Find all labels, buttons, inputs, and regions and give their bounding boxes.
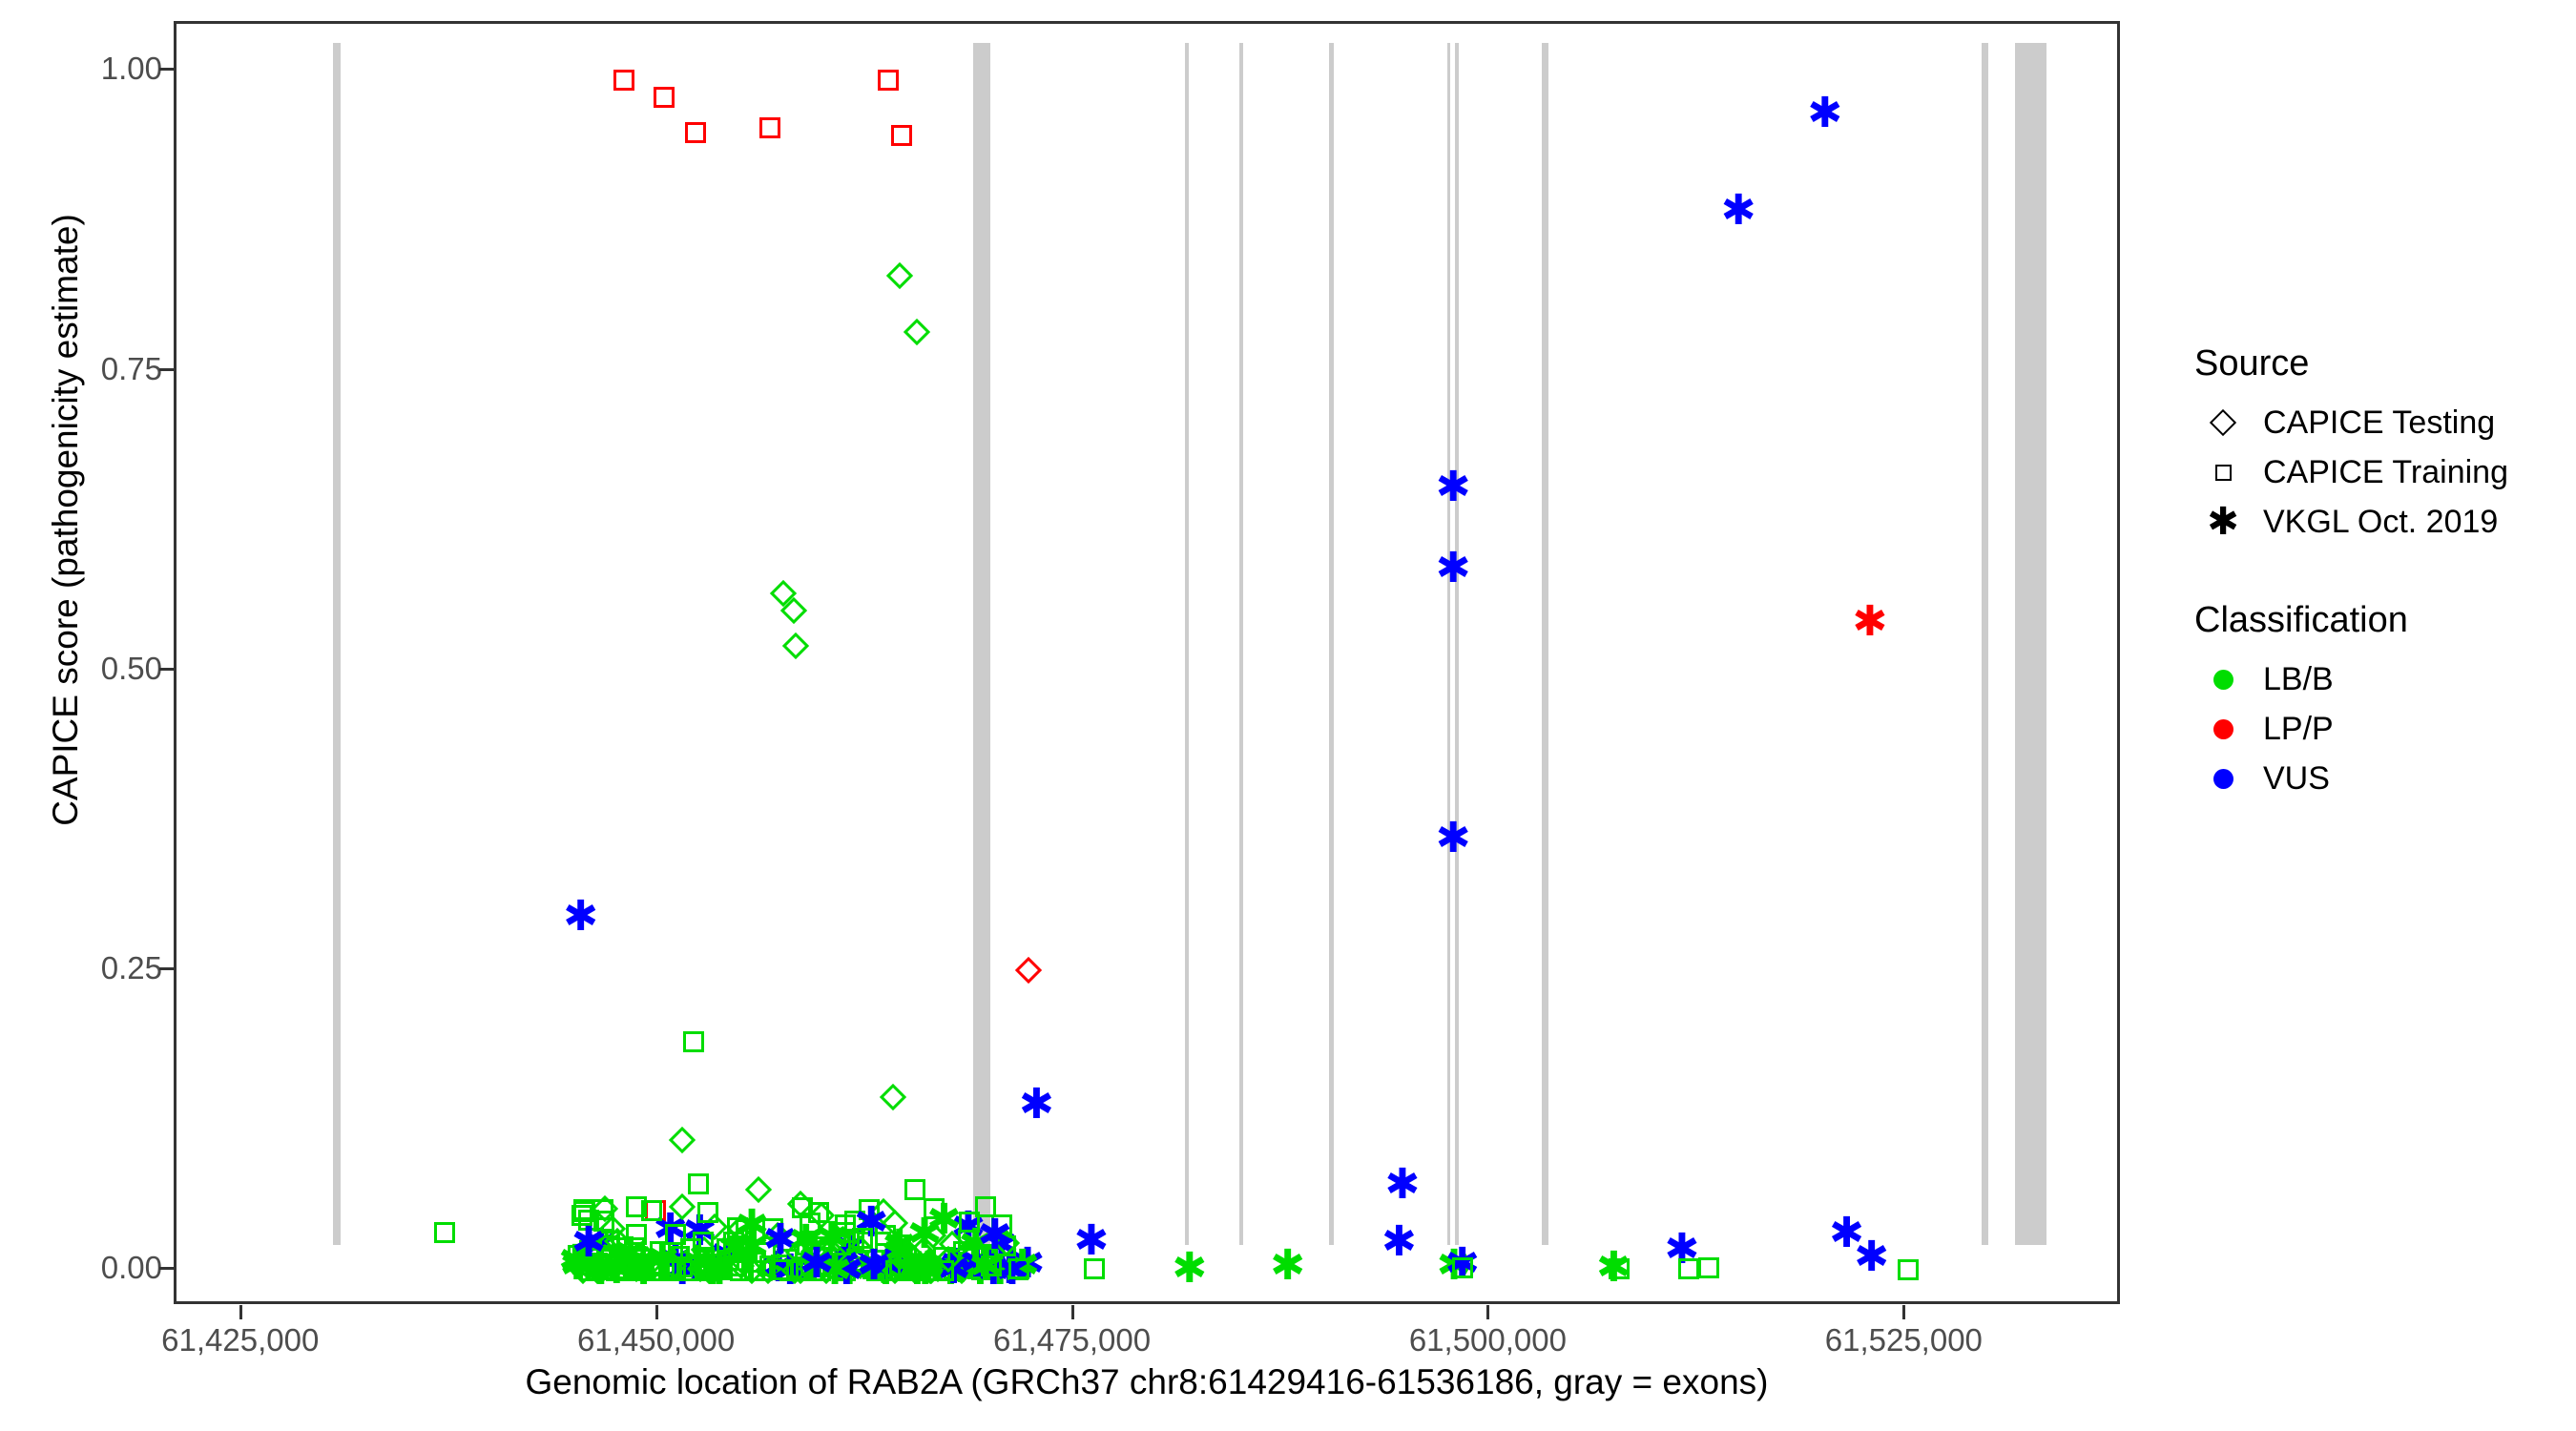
scatter-point bbox=[823, 1253, 844, 1274]
scatter-point bbox=[687, 1255, 714, 1282]
scatter-point bbox=[680, 1238, 701, 1259]
scatter-point bbox=[434, 1222, 455, 1243]
scatter-point: ✱ bbox=[857, 1252, 885, 1280]
scatter-point bbox=[785, 1238, 812, 1265]
legend-item[interactable]: VUS bbox=[2194, 754, 2576, 803]
scatter-point: ✱ bbox=[1807, 99, 1836, 128]
scatter-point: ✱ bbox=[1854, 1243, 1882, 1272]
y-tick-mark bbox=[159, 68, 174, 71]
scatter-point: ✱ bbox=[1852, 608, 1880, 636]
scatter-point bbox=[568, 1245, 589, 1266]
scatter-point bbox=[1452, 1257, 1473, 1278]
scatter-point bbox=[630, 1249, 651, 1270]
scatter-point bbox=[727, 1215, 754, 1242]
scatter-point: ✱ bbox=[976, 1256, 1005, 1285]
scatter-point bbox=[790, 1259, 811, 1280]
scatter-point bbox=[781, 633, 808, 659]
scatter-point bbox=[592, 1259, 613, 1280]
scatter-point: ✱ bbox=[907, 1256, 936, 1285]
scatter-point: ✱ bbox=[936, 1255, 965, 1284]
y-tick-label: 1.00 bbox=[29, 52, 162, 84]
scatter-point bbox=[697, 1202, 718, 1223]
scatter-point bbox=[886, 262, 913, 289]
scatter-point bbox=[810, 1260, 831, 1281]
scatter-point: ✱ bbox=[892, 1249, 921, 1277]
scatter-point bbox=[595, 1259, 616, 1280]
scatter-point bbox=[573, 1199, 594, 1220]
scatter-point bbox=[658, 1258, 679, 1279]
scatter-point: ✱ bbox=[710, 1241, 738, 1270]
scatter-point bbox=[953, 1241, 974, 1262]
scatter-point bbox=[586, 1257, 613, 1284]
x-tick-label: 61,500,000 bbox=[1344, 1324, 1631, 1356]
scatter-point bbox=[1898, 1259, 1919, 1280]
diamond-icon bbox=[2194, 398, 2252, 447]
scatter-point bbox=[615, 1260, 636, 1281]
scatter-point bbox=[650, 1241, 671, 1262]
scatter-point bbox=[777, 1249, 798, 1270]
scatter-point: ✱ bbox=[735, 1212, 763, 1240]
scatter-point bbox=[904, 319, 930, 345]
scatter-point bbox=[612, 1237, 633, 1258]
scatter-point bbox=[939, 1231, 966, 1257]
scatter-point bbox=[944, 1258, 965, 1279]
scatter-point bbox=[917, 1257, 944, 1284]
scatter-point bbox=[592, 1244, 618, 1271]
dot-icon bbox=[2194, 704, 2252, 754]
scatter-point bbox=[626, 1224, 647, 1245]
scatter-point bbox=[581, 1248, 602, 1269]
scatter-point bbox=[649, 1260, 670, 1281]
scatter-point bbox=[933, 1260, 954, 1281]
scatter-point: ✱ bbox=[833, 1234, 862, 1262]
scatter-point bbox=[604, 1228, 631, 1255]
legend-item-label: LP/P bbox=[2263, 711, 2334, 748]
scatter-point bbox=[672, 1256, 693, 1277]
scatter-point: ✱ bbox=[1010, 1250, 1039, 1278]
legend-item[interactable]: CAPICE Training bbox=[2194, 447, 2576, 497]
legend-block: ClassificationLB/BLP/PVUS bbox=[2194, 600, 2576, 803]
scatter-point bbox=[878, 70, 899, 91]
scatter-point bbox=[800, 1238, 826, 1265]
scatter-point bbox=[780, 597, 807, 624]
scatter-point bbox=[717, 1238, 737, 1259]
scatter-point bbox=[614, 1258, 635, 1279]
scatter-point bbox=[593, 1211, 614, 1232]
scatter-point bbox=[918, 1260, 939, 1281]
scatter-point: ✱ bbox=[734, 1234, 762, 1262]
scatter-point: ✱ bbox=[571, 1229, 600, 1257]
scatter-point bbox=[641, 1200, 662, 1221]
square-icon bbox=[2194, 447, 2252, 497]
scatter-point: ✱ bbox=[907, 1220, 936, 1249]
scatter-point bbox=[1678, 1258, 1699, 1279]
legend-item[interactable]: LP/P bbox=[2194, 704, 2576, 754]
scatter-point: ✱ bbox=[583, 1256, 612, 1285]
scatter-point bbox=[933, 1247, 954, 1268]
scatter-point bbox=[800, 1255, 821, 1276]
scatter-point bbox=[606, 1246, 633, 1273]
scatter-point: ✱ bbox=[882, 1232, 910, 1260]
scatter-point bbox=[1015, 957, 1042, 984]
scatter-point: ✱ bbox=[583, 1231, 612, 1259]
scatter-point bbox=[981, 1255, 1002, 1276]
scatter-point bbox=[683, 1031, 704, 1052]
scatter-point bbox=[599, 1215, 626, 1242]
plot-panel: ✱✱✱✱✱✱✱✱✱✱✱✱✱✱✱✱✱✱✱✱✱✱✱✱✱✱✱✱✱✱✱✱✱✱✱✱✱✱✱✱… bbox=[174, 21, 2120, 1304]
scatter-point bbox=[723, 1255, 744, 1276]
scatter-point bbox=[723, 1232, 744, 1253]
scatter-point bbox=[835, 1214, 856, 1235]
scatter-point bbox=[584, 1257, 611, 1284]
x-tick-mark bbox=[1902, 1305, 1905, 1319]
scatter-point: ✱ bbox=[825, 1250, 854, 1278]
scatter-point bbox=[727, 1217, 748, 1238]
scatter-point bbox=[770, 580, 797, 607]
scatter-point bbox=[889, 1259, 910, 1280]
scatter-point: ✱ bbox=[1270, 1252, 1298, 1280]
scatter-point bbox=[806, 1255, 827, 1275]
scatter-point bbox=[866, 1250, 887, 1271]
scatter-point: ✱ bbox=[653, 1215, 681, 1244]
scatter-point bbox=[844, 1211, 865, 1232]
scatter-point bbox=[1609, 1258, 1630, 1279]
scatter-point: ✱ bbox=[871, 1252, 900, 1280]
scatter-point bbox=[712, 1257, 733, 1278]
scatter-point bbox=[847, 1235, 874, 1262]
scatter-point bbox=[632, 1260, 653, 1281]
scatter-point bbox=[846, 1251, 867, 1272]
x-axis-title: Genomic location of RAB2A (GRCh37 chr8:6… bbox=[174, 1359, 2120, 1405]
scatter-point: ✱ bbox=[702, 1256, 731, 1285]
scatter-point: ✱ bbox=[900, 1256, 928, 1285]
scatter-point bbox=[824, 1226, 851, 1253]
scatter-point: ✱ bbox=[910, 1254, 939, 1282]
scatter-point: ✱ bbox=[799, 1250, 827, 1278]
scatter-point bbox=[606, 1260, 627, 1281]
scatter-point: ✱ bbox=[1664, 1235, 1693, 1264]
scatter-point bbox=[847, 1256, 868, 1277]
scatter-point bbox=[779, 1260, 800, 1281]
scatter-point bbox=[626, 1196, 647, 1217]
scatter-point bbox=[883, 1260, 904, 1281]
scatter-point bbox=[852, 1228, 873, 1249]
scatter-point: ✱ bbox=[717, 1234, 746, 1263]
scatter-point: ✱ bbox=[679, 1248, 708, 1276]
scatter-point bbox=[665, 1224, 686, 1245]
scatter-point bbox=[917, 1257, 944, 1284]
scatter-point: ✱ bbox=[881, 1239, 909, 1268]
scatter-point bbox=[578, 1210, 599, 1231]
x-tick-mark bbox=[1071, 1305, 1074, 1319]
scatter-point: ✱ bbox=[1385, 1171, 1414, 1199]
scatter-point bbox=[890, 1234, 911, 1255]
scatter-point: ✱ bbox=[762, 1226, 791, 1255]
y-tick-mark bbox=[159, 1267, 174, 1270]
scatter-point bbox=[1698, 1257, 1719, 1278]
scatter-point bbox=[736, 1219, 757, 1240]
scatter-point bbox=[808, 1202, 829, 1223]
scatter-point bbox=[800, 1255, 821, 1275]
scatter-point: ✱ bbox=[867, 1255, 896, 1284]
scatter-point bbox=[870, 1232, 891, 1253]
scatter-point bbox=[762, 1218, 783, 1239]
scatter-point bbox=[901, 1256, 922, 1277]
y-tick-mark bbox=[159, 967, 174, 970]
scatter-point bbox=[573, 1201, 594, 1222]
scatter-point bbox=[771, 1255, 792, 1275]
scatter-point: ✱ bbox=[599, 1255, 628, 1284]
scatter-point: ✱ bbox=[963, 1256, 991, 1285]
scatter-point: ✱ bbox=[854, 1209, 883, 1237]
y-tick-label: 0.50 bbox=[29, 653, 162, 684]
scatter-point bbox=[908, 1238, 935, 1265]
dot-icon bbox=[2194, 654, 2252, 704]
scatter-point bbox=[755, 1242, 776, 1263]
scatter-point bbox=[796, 1256, 817, 1277]
scatter-point bbox=[705, 1259, 726, 1280]
scatter-point bbox=[641, 1254, 662, 1275]
scatter-point bbox=[934, 1246, 961, 1273]
legend-title: Source bbox=[2194, 343, 2576, 384]
scatter-point bbox=[885, 1244, 912, 1271]
scatter-point bbox=[738, 1257, 765, 1284]
scatter-point bbox=[571, 1205, 592, 1226]
legend-block: SourceCAPICE TestingCAPICE Training✱VKGL… bbox=[2194, 343, 2576, 547]
scatter-point bbox=[695, 1253, 721, 1279]
scatter-point bbox=[862, 1258, 883, 1279]
scatter-point: ✱ bbox=[558, 1247, 587, 1275]
exon-band bbox=[1447, 43, 1450, 1245]
scatter-point bbox=[891, 125, 912, 146]
x-tick-label: 61,525,000 bbox=[1760, 1324, 2046, 1356]
scatter-point bbox=[634, 1255, 654, 1276]
dot-icon bbox=[2194, 754, 2252, 803]
scatter-point bbox=[718, 1250, 739, 1271]
scatter-point bbox=[661, 1260, 682, 1281]
scatter-point: ✱ bbox=[665, 1256, 694, 1285]
x-tick-mark bbox=[655, 1305, 658, 1319]
scatter-point bbox=[787, 1191, 814, 1217]
scatter-point: ✱ bbox=[1019, 1090, 1048, 1119]
exon-band bbox=[1329, 43, 1333, 1245]
scatter-point bbox=[796, 1260, 817, 1281]
scatter-point bbox=[587, 1253, 608, 1274]
y-tick-mark bbox=[159, 368, 174, 371]
scatter-point bbox=[904, 1179, 925, 1200]
scatter-point bbox=[645, 1200, 666, 1221]
exon-band bbox=[1239, 43, 1243, 1245]
scatter-point: ✱ bbox=[868, 1256, 897, 1285]
exon-band bbox=[1185, 43, 1189, 1245]
exon-band bbox=[1982, 43, 1988, 1245]
scatter-point bbox=[993, 1230, 1020, 1256]
legend-item-label: CAPICE Testing bbox=[2263, 404, 2495, 442]
legend-item-label: VKGL Oct. 2019 bbox=[2263, 504, 2498, 541]
scatter-point bbox=[857, 1232, 878, 1253]
scatter-point bbox=[751, 1260, 772, 1281]
scatter-point bbox=[609, 1252, 630, 1273]
scatter-point bbox=[870, 1257, 897, 1284]
scatter-point bbox=[669, 1127, 696, 1153]
scatter-point bbox=[592, 1234, 619, 1260]
scatter-point bbox=[896, 1245, 917, 1266]
scatter-point bbox=[898, 1260, 919, 1281]
scatter-point bbox=[580, 1260, 601, 1281]
scatter-point bbox=[694, 1247, 715, 1268]
scatter-point: ✱ bbox=[944, 1255, 972, 1283]
legend: SourceCAPICE TestingCAPICE Training✱VKGL… bbox=[2194, 343, 2576, 857]
scatter-point bbox=[730, 1260, 751, 1281]
scatter-point bbox=[920, 1221, 946, 1248]
scatter-point bbox=[773, 1259, 794, 1280]
scatter-point bbox=[759, 1255, 780, 1276]
scatter-point bbox=[693, 1260, 714, 1281]
scatter-point bbox=[643, 1255, 664, 1276]
x-tick-label: 61,450,000 bbox=[513, 1324, 800, 1356]
scatter-point: ✱ bbox=[933, 1256, 962, 1285]
scatter-point bbox=[821, 1240, 848, 1267]
scatter-point: ✱ bbox=[983, 1256, 1011, 1285]
scatter-point: ✱ bbox=[959, 1249, 987, 1277]
scatter-point bbox=[654, 87, 675, 108]
scatter-point bbox=[703, 1258, 724, 1279]
scatter-point bbox=[859, 1199, 880, 1220]
y-axis-title: CAPICE score (pathogenicity estimate) bbox=[44, 0, 88, 1183]
scatter-point: ✱ bbox=[818, 1256, 846, 1285]
scatter-point: ✱ bbox=[626, 1256, 654, 1285]
x-tick-label: 61,475,000 bbox=[929, 1324, 1215, 1356]
legend-item[interactable]: CAPICE Testing bbox=[2194, 398, 2576, 447]
scatter-point bbox=[804, 1260, 825, 1281]
scatter-point bbox=[910, 1260, 931, 1281]
scatter-point bbox=[744, 1260, 765, 1281]
scatter-point: ✱ bbox=[968, 1253, 997, 1281]
scatter-point: ✱ bbox=[773, 1256, 801, 1285]
scatter-point: ✱ bbox=[761, 1254, 790, 1282]
scatter-point: ✱ bbox=[1596, 1254, 1625, 1282]
scatter-point bbox=[868, 1260, 889, 1281]
scatter-point bbox=[579, 1240, 600, 1261]
scatter-point bbox=[623, 1257, 644, 1278]
scatter-point bbox=[705, 1257, 732, 1284]
scatter-point bbox=[612, 1260, 633, 1281]
scatter-point: ✱ bbox=[1005, 1252, 1033, 1280]
scatter-point bbox=[693, 1232, 714, 1253]
scatter-point: ✱ bbox=[695, 1256, 723, 1285]
scatter-point bbox=[882, 1210, 908, 1236]
scatter-point bbox=[592, 1199, 613, 1220]
scatter-point bbox=[703, 1254, 724, 1275]
scatter-point bbox=[759, 117, 780, 138]
y-tick-label: 0.25 bbox=[29, 952, 162, 984]
scatter-point bbox=[924, 1198, 945, 1219]
legend-item[interactable]: ✱VKGL Oct. 2019 bbox=[2194, 497, 2576, 547]
scatter-point bbox=[903, 1257, 929, 1284]
scatter-point bbox=[598, 1235, 619, 1256]
scatter-point bbox=[901, 1256, 927, 1283]
scatter-point bbox=[697, 1259, 718, 1280]
scatter-point bbox=[575, 1255, 596, 1275]
scatter-point bbox=[625, 1246, 646, 1267]
scatter-point bbox=[995, 1235, 1016, 1256]
scatter-point bbox=[1008, 1258, 1029, 1279]
scatter-point bbox=[786, 1260, 807, 1281]
exon-band bbox=[973, 43, 989, 1245]
scatter-point bbox=[622, 1255, 649, 1282]
scatter-point bbox=[808, 1247, 829, 1268]
scatter-point bbox=[605, 1250, 632, 1276]
scatter-point bbox=[861, 1256, 882, 1277]
scatter-point bbox=[967, 1258, 988, 1279]
scatter-point bbox=[668, 1246, 689, 1267]
chart-root: CAPICE score (pathogenicity estimate) 0.… bbox=[0, 0, 2576, 1431]
scatter-point bbox=[745, 1252, 766, 1273]
scatter-point: ✱ bbox=[658, 1247, 687, 1275]
scatter-point bbox=[843, 1231, 864, 1252]
scatter-point: ✱ bbox=[563, 902, 592, 931]
scatter-point bbox=[800, 1213, 821, 1234]
legend-item-label: LB/B bbox=[2263, 661, 2334, 698]
scatter-point bbox=[890, 1260, 911, 1281]
scatter-point bbox=[875, 1225, 896, 1246]
scatter-point bbox=[971, 1259, 992, 1280]
scatter-point bbox=[644, 1260, 665, 1281]
legend-item-label: VUS bbox=[2263, 760, 2330, 798]
exon-band bbox=[1542, 43, 1548, 1245]
scatter-point bbox=[792, 1197, 813, 1218]
scatter-point bbox=[830, 1234, 851, 1255]
x-tick-label: 61,425,000 bbox=[97, 1324, 384, 1356]
scatter-point bbox=[613, 70, 634, 91]
scatter-point bbox=[624, 1237, 645, 1258]
scatter-point bbox=[623, 1254, 650, 1280]
scatter-point bbox=[745, 1176, 772, 1203]
scatter-point bbox=[991, 1214, 1012, 1235]
scatter-point bbox=[835, 1222, 856, 1243]
scatter-point bbox=[937, 1260, 958, 1281]
scatter-point bbox=[609, 1254, 630, 1275]
legend-item-label: CAPICE Training bbox=[2263, 454, 2508, 491]
legend-item[interactable]: LB/B bbox=[2194, 654, 2576, 704]
scatter-point bbox=[764, 1222, 791, 1249]
y-tick-label: 0.75 bbox=[29, 353, 162, 384]
scatter-point bbox=[866, 1260, 887, 1281]
scatter-point bbox=[709, 1259, 730, 1280]
scatter-point bbox=[570, 1257, 596, 1284]
scatter-point bbox=[676, 1260, 697, 1281]
scatter-point: ✱ bbox=[1381, 1228, 1410, 1256]
y-tick-mark bbox=[159, 668, 174, 671]
scatter-point: ✱ bbox=[682, 1217, 711, 1246]
scatter-point bbox=[665, 1259, 686, 1280]
scatter-point bbox=[669, 1246, 690, 1267]
x-tick-mark bbox=[239, 1305, 242, 1319]
scatter-point bbox=[882, 1257, 908, 1284]
scatter-point bbox=[601, 1246, 622, 1267]
scatter-point bbox=[696, 1257, 722, 1284]
scatter-point bbox=[634, 1246, 660, 1273]
scatter-point bbox=[611, 1260, 632, 1281]
scatter-point: ✱ bbox=[1172, 1255, 1200, 1283]
scatter-point bbox=[813, 1257, 840, 1284]
scatter-point bbox=[758, 1255, 784, 1281]
scatter-point bbox=[574, 1252, 601, 1278]
scatter-point bbox=[948, 1257, 975, 1284]
scatter-point bbox=[669, 1193, 696, 1220]
scatter-point: ✱ bbox=[926, 1206, 955, 1234]
scatter-point bbox=[735, 1235, 756, 1256]
